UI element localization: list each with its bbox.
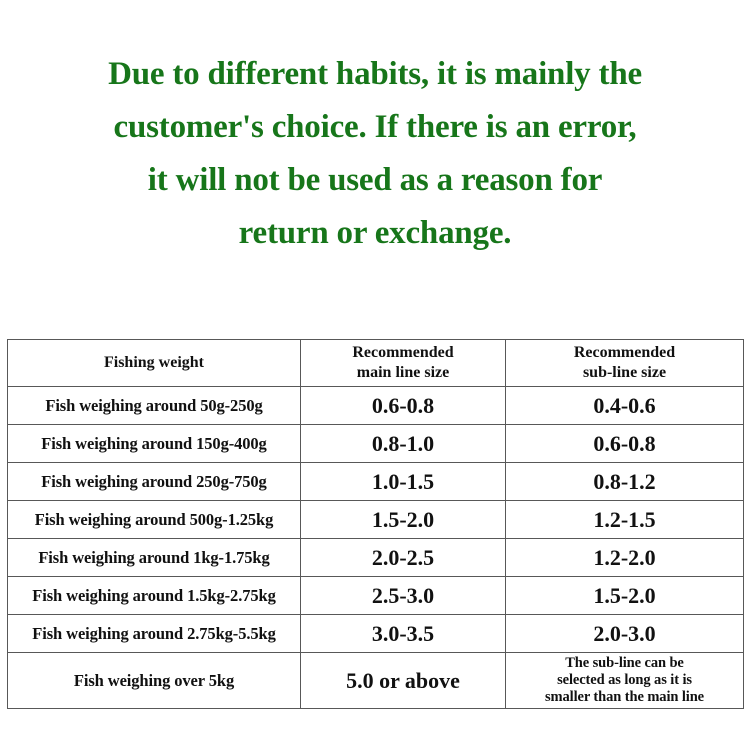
cell-sub-line: 1.2-1.5 [506,501,744,539]
table-row: Fish weighing around 500g-1.25kg 1.5-2.0… [8,501,744,539]
cell-weight: Fish weighing over 5kg [8,653,301,709]
fishing-line-size-table-wrap: Fishing weight Recommended main line siz… [7,339,743,709]
cell-weight: Fish weighing around 1.5kg-2.75kg [8,577,301,615]
cell-weight: Fish weighing around 500g-1.25kg [8,501,301,539]
cell-main-line: 2.5-3.0 [301,577,506,615]
notice-line-4: return or exchange. [28,207,722,260]
table-row: Fish weighing around 250g-750g 1.0-1.5 0… [8,463,744,501]
cell-main-line: 1.5-2.0 [301,501,506,539]
cell-sub-line: 1.5-2.0 [506,577,744,615]
cell-weight: Fish weighing around 150g-400g [8,425,301,463]
cell-sub-line: 0.8-1.2 [506,463,744,501]
cell-sub-line: 1.2-2.0 [506,539,744,577]
column-header-sub-line-size-line-1: Recommended [574,344,675,361]
table-row: Fish weighing around 2.75kg-5.5kg 3.0-3.… [8,615,744,653]
cell-main-line: 3.0-3.5 [301,615,506,653]
column-header-sub-line-size-line-2: sub-line size [583,364,666,381]
column-header-sub-line-size: Recommended sub-line size [506,340,744,387]
cell-weight: Fish weighing around 2.75kg-5.5kg [8,615,301,653]
cell-sub-line-note-line-2: selected as long as it is [557,672,692,688]
cell-weight: Fish weighing around 50g-250g [8,387,301,425]
notice-line-3: it will not be used as a reason for [28,154,722,207]
cell-main-line: 0.8-1.0 [301,425,506,463]
cell-sub-line-note-line-3: smaller than the main line [545,689,704,705]
cell-main-line: 0.6-0.8 [301,387,506,425]
cell-sub-line: 2.0-3.0 [506,615,744,653]
cell-sub-line: 0.4-0.6 [506,387,744,425]
notice-line-1: Due to different habits, it is mainly th… [28,48,722,101]
cell-main-line: 1.0-1.5 [301,463,506,501]
table-header-row: Fishing weight Recommended main line siz… [8,340,744,387]
notice-line-2: customer's choice. If there is an error, [28,101,722,154]
table-row: Fish weighing around 150g-400g 0.8-1.0 0… [8,425,744,463]
cell-sub-line-note-line-1: The sub-line can be [565,655,684,671]
cell-weight: Fish weighing around 1kg-1.75kg [8,539,301,577]
column-header-fishing-weight: Fishing weight [8,340,301,387]
column-header-main-line-size-line-1: Recommended [352,344,453,361]
cell-sub-line: 0.6-0.8 [506,425,744,463]
cell-main-line: 5.0 or above [301,653,506,709]
table-row: Fish weighing around 50g-250g 0.6-0.8 0.… [8,387,744,425]
cell-weight: Fish weighing around 250g-750g [8,463,301,501]
cell-sub-line-note: The sub-line can be selected as long as … [506,653,744,709]
page-root: Due to different habits, it is mainly th… [0,0,750,750]
column-header-main-line-size: Recommended main line size [301,340,506,387]
column-header-main-line-size-line-2: main line size [357,364,449,381]
table-row: Fish weighing around 1.5kg-2.75kg 2.5-3.… [8,577,744,615]
fishing-line-size-table: Fishing weight Recommended main line siz… [7,339,744,709]
notice-text: Due to different habits, it is mainly th… [0,48,750,260]
table-row: Fish weighing around 1kg-1.75kg 2.0-2.5 … [8,539,744,577]
column-header-fishing-weight-line-1: Fishing weight [104,354,204,371]
cell-main-line: 2.0-2.5 [301,539,506,577]
table-row: Fish weighing over 5kg 5.0 or above The … [8,653,744,709]
